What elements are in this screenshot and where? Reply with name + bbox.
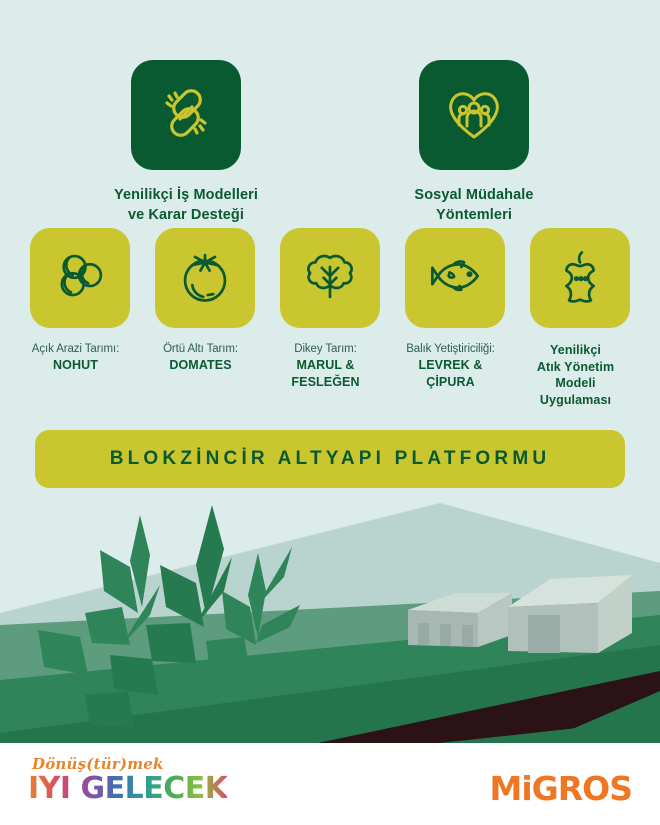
- apple-core-icon: [551, 247, 609, 310]
- banner-text: BLOKZİNCİR ALTYAPI PLATFORMU: [110, 448, 551, 470]
- crop-tile-yellow: [530, 228, 630, 328]
- crop-caption-bold-2: FESLEĞEN: [267, 374, 385, 391]
- feature-label-line2: ve Karar Desteği: [128, 207, 244, 223]
- crop-caption-bold: Yenilikçi: [517, 342, 635, 359]
- infographic-poster: Yenilikçi İş Modelleri ve Karar Desteği: [0, 0, 660, 825]
- crop-item-chickpea: Açık Arazi Tarımı: NOHUT: [30, 228, 130, 408]
- chain-link-icon: [154, 81, 218, 150]
- chickpea-icon: [51, 247, 109, 310]
- farm-landscape-illustration: [0, 495, 660, 743]
- feature-label: Yenilikçi İş Modelleri ve Karar Desteği: [114, 186, 258, 225]
- feature-item-innovative-business-models: Yenilikçi İş Modelleri ve Karar Desteği: [86, 60, 286, 225]
- crop-caption: Örtü Altı Tarım: DOMATES: [142, 342, 260, 374]
- lettuce-icon: [301, 247, 359, 310]
- crop-caption-top: Balık Yetiştiriciliği:: [392, 342, 510, 357]
- campaign-logo: Dönüş(tür)mek İYİ GELECEK: [28, 755, 227, 804]
- feature-label-line2: Yöntemleri: [436, 207, 512, 223]
- crop-caption: Açık Arazi Tarımı: NOHUT: [17, 342, 135, 374]
- crop-caption-top: Örtü Altı Tarım:: [142, 342, 260, 357]
- campaign-logo-main: İYİ GELECEK: [28, 774, 227, 804]
- crop-tile-yellow: [405, 228, 505, 328]
- tomato-icon: [176, 247, 234, 310]
- feature-tile-dark: [419, 60, 529, 170]
- feature-item-social-intervention: Sosyal Müdahale Yöntemleri: [374, 60, 574, 225]
- crop-item-tomato: Örtü Altı Tarım: DOMATES: [155, 228, 255, 408]
- crop-caption-bold: LEVREK &: [392, 357, 510, 374]
- crop-caption-bold: NOHUT: [17, 357, 135, 374]
- blockchain-platform-banner: BLOKZİNCİR ALTYAPI PLATFORMU: [35, 430, 625, 488]
- crop-caption-bold: MARUL &: [267, 357, 385, 374]
- feature-label-line1: Yenilikçi İş Modelleri: [114, 187, 258, 203]
- footer: Dönüş(tür)mek İYİ GELECEK MiGROS: [0, 743, 660, 825]
- feature-row: Yenilikçi İş Modelleri ve Karar Desteği: [0, 60, 660, 225]
- crop-tile-yellow: [30, 228, 130, 328]
- crop-caption-bold-3: Modeli: [517, 375, 635, 392]
- crop-caption-bold-2: Atık Yönetim: [517, 359, 635, 376]
- crop-caption-bold: DOMATES: [142, 357, 260, 374]
- crop-row: Açık Arazi Tarımı: NOHUT Örtü Altı Tarım: [30, 228, 630, 408]
- feature-label: Sosyal Müdahale Yöntemleri: [414, 186, 533, 225]
- crop-caption-top: Açık Arazi Tarımı:: [17, 342, 135, 357]
- crop-item-fish: Balık Yetiştiriciliği: LEVREK & ÇİPURA: [405, 228, 505, 408]
- crop-caption-bold-2: ÇİPURA: [392, 374, 510, 391]
- crop-item-lettuce-basil: Dikey Tarım: MARUL & FESLEĞEN: [280, 228, 380, 408]
- crop-caption: Balık Yetiştiriciliği: LEVREK & ÇİPURA: [392, 342, 510, 390]
- crop-caption: Dikey Tarım: MARUL & FESLEĞEN: [267, 342, 385, 390]
- migros-logo: MiGROS: [490, 769, 632, 808]
- fish-icon: [426, 247, 484, 310]
- crop-tile-yellow: [280, 228, 380, 328]
- feature-tile-dark: [131, 60, 241, 170]
- crop-caption: Yenilikçi Atık Yönetim Modeli Uygulaması: [517, 342, 635, 408]
- crop-item-waste-management: Yenilikçi Atık Yönetim Modeli Uygulaması: [530, 228, 630, 408]
- heart-people-icon: [442, 81, 506, 150]
- crop-tile-yellow: [155, 228, 255, 328]
- crop-caption-top: Dikey Tarım:: [267, 342, 385, 357]
- feature-label-line1: Sosyal Müdahale: [414, 187, 533, 203]
- crop-caption-bold-4: Uygulaması: [517, 392, 635, 409]
